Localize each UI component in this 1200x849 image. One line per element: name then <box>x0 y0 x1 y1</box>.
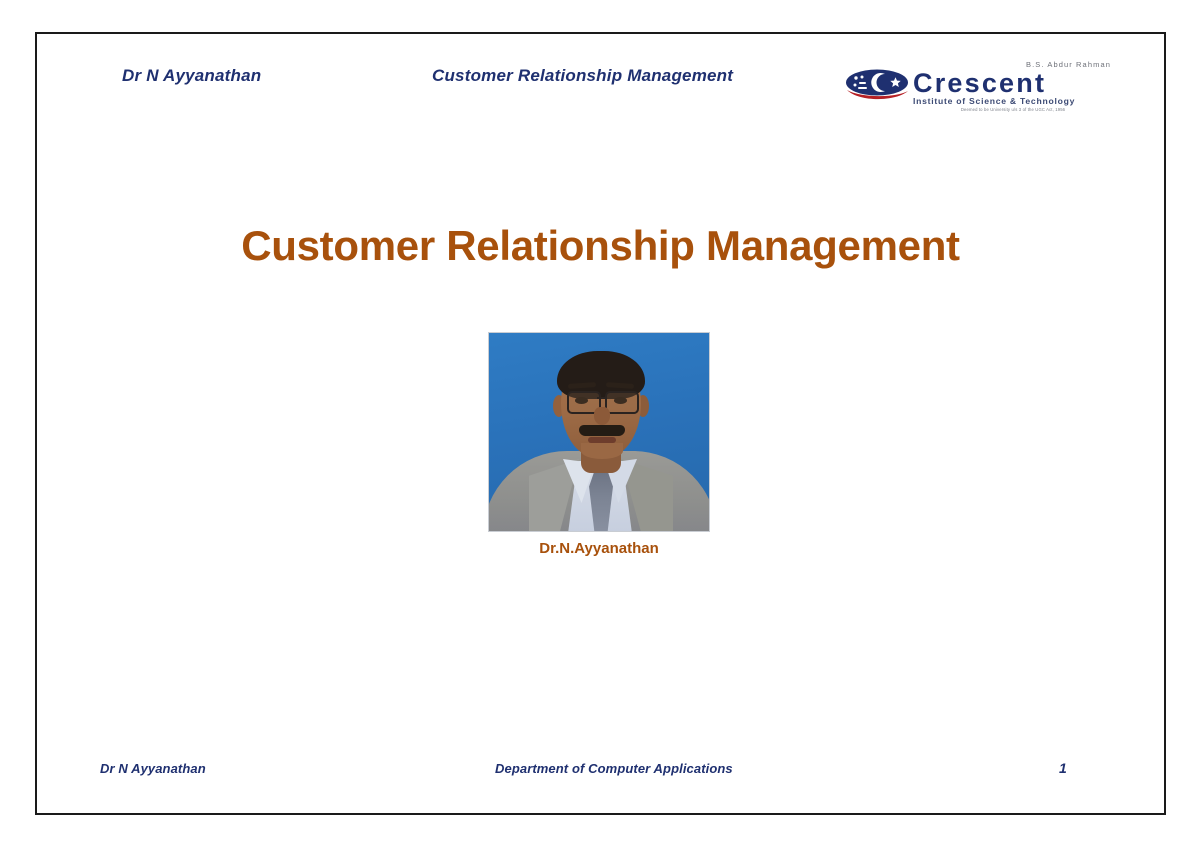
photo-mouth <box>588 437 616 443</box>
photo-spectacle-right <box>605 391 639 414</box>
photo-chin <box>581 443 623 459</box>
logo-text-stack: B.S. Abdur Rahman Crescent Institute of … <box>913 60 1113 113</box>
institution-logo: B.S. Abdur Rahman Crescent Institute of … <box>845 60 1115 110</box>
header-author-label: Dr N Ayyanathan <box>122 66 261 86</box>
footer-department-label: Department of Computer Applications <box>495 761 733 776</box>
header-subject-label: Customer Relationship Management <box>432 66 733 86</box>
photo-nose <box>594 407 610 425</box>
footer-author-label: Dr N Ayyanathan <box>100 761 206 776</box>
presenter-portrait-photo <box>488 332 710 532</box>
slide-page-frame: Dr N Ayyanathan Customer Relationship Ma… <box>35 32 1166 815</box>
portrait-caption: Dr.N.Ayyanathan <box>488 540 710 557</box>
photo-spectacle-bridge <box>597 397 607 399</box>
slide-header: Dr N Ayyanathan Customer Relationship Ma… <box>37 56 1164 112</box>
crescent-moon-star-emblem-icon <box>845 68 913 102</box>
logo-wordmark: Crescent <box>913 70 1113 96</box>
logo-fine-print: Deemed to be University u/s 3 of the UGC… <box>913 107 1113 113</box>
photo-moustache <box>579 425 625 436</box>
portrait-block: Dr.N.Ayyanathan <box>488 332 712 534</box>
slide-title: Customer Relationship Management <box>37 222 1164 270</box>
logo-subtitle: Institute of Science & Technology <box>913 96 1113 107</box>
slide-canvas: Dr N Ayyanathan Customer Relationship Ma… <box>0 0 1200 849</box>
footer-page-number: 1 <box>1059 760 1067 776</box>
